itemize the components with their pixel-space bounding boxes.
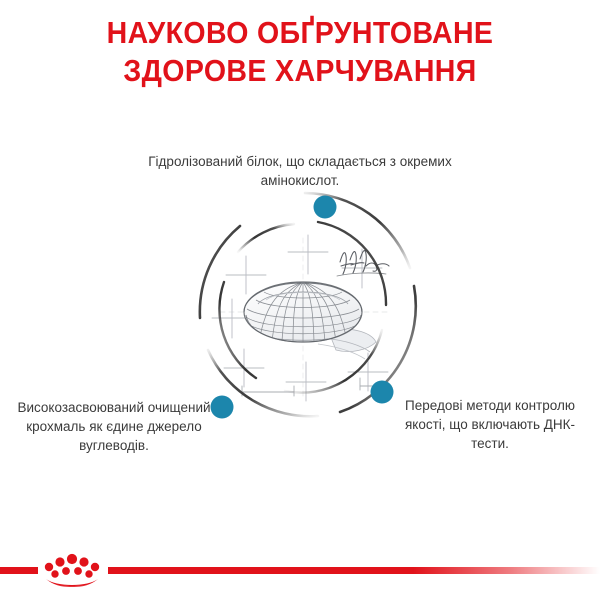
dimension-marks-icon (242, 378, 386, 396)
infographic-slide: НАУКОВО ОБҐРУНТОВАНЕ ЗДОРОВЕ ХАРЧУВАННЯ … (0, 0, 600, 600)
crown-logo-icon (40, 550, 104, 590)
node-top-dot (314, 196, 337, 219)
node-lower-right-dot (371, 381, 394, 404)
kibble-sketch-icon (244, 282, 376, 359)
footer-rule-left (0, 567, 38, 574)
page-title: НАУКОВО ОБҐРУНТОВАНЕ ЗДОРОВЕ ХАРЧУВАННЯ (0, 14, 600, 90)
callout-left-text: Високозасвоюваний очищений крохмаль як є… (16, 398, 212, 455)
title-line-2: ЗДОРОВЕ ХАРЧУВАННЯ (24, 52, 576, 90)
title-line-1: НАУКОВО ОБҐРУНТОВАНЕ (24, 14, 576, 52)
node-lower-left-dot (211, 396, 234, 419)
brand-footer (0, 538, 600, 600)
callout-top-text: Гідролізований білок, що складається з о… (130, 152, 470, 190)
callout-right-text: Передові методи контролю якості, що вклю… (392, 396, 588, 453)
footer-rule-right (108, 567, 600, 574)
kibble-ring-diagram (190, 190, 420, 420)
